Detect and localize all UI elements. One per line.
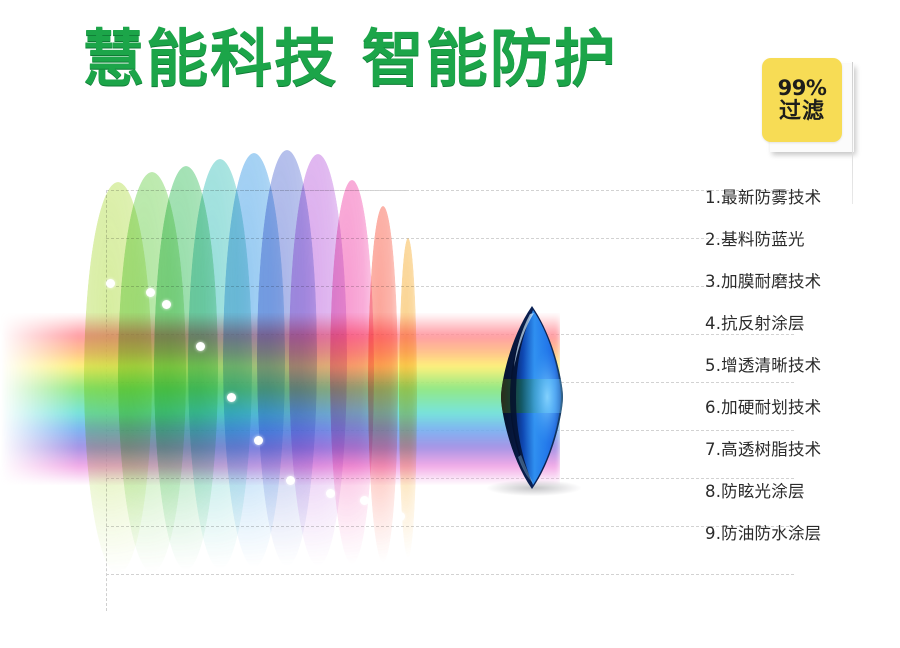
coating-layer-marker-8 [326,489,335,498]
coating-layer-marker-9 [360,496,369,505]
feature-item-7: 7.高透树脂技术 [705,440,895,482]
feature-item-3: 3.加膜耐磨技术 [705,272,895,314]
coating-layer-9 [368,206,398,562]
coating-layer-marker-3 [162,300,171,309]
feature-item-6: 6.加硬耐划技术 [705,398,895,440]
coating-layer-marker-10 [396,512,405,521]
feature-list: 1.最新防雾技术2.基料防蓝光3.加膜耐磨技术4.抗反射涂层5.增透清晰技术6.… [705,188,895,566]
coating-layer-marker-4 [196,342,205,351]
page-title-block: 慧能科技 智能防护 慧能科技 智能防护 [0,24,700,154]
badge-divider-rule [852,62,853,204]
coating-layer-marker-1 [106,279,115,288]
feature-item-4: 4.抗反射涂层 [705,314,895,356]
coating-layer-marker-7 [286,476,295,485]
coating-layer-marker-5 [227,393,236,402]
leader-line-9 [106,574,794,575]
badge-percent: 99% [778,77,827,99]
promo-poster: 慧能科技 智能防护 慧能科技 智能防护 99% 过滤 [0,0,900,648]
blue-focus-lens [497,305,567,490]
feature-item-5: 5.增透清晰技术 [705,356,895,398]
feature-item-1: 1.最新防雾技术 [705,188,895,230]
lens-coating-diagram [0,150,700,620]
feature-item-2: 2.基料防蓝光 [705,230,895,272]
badge-tile: 99% 过滤 [762,58,842,142]
feature-item-8: 8.防眩光涂层 [705,482,895,524]
coating-layer-10 [399,238,417,558]
badge-label: 过滤 [779,99,825,124]
feature-item-9: 9.防油防水涂层 [705,524,895,566]
coating-layer-marker-2 [146,288,155,297]
filter-badge: 99% 过滤 [758,54,858,154]
page-title: 慧能科技 智能防护 [0,24,700,94]
coating-layer-marker-6 [254,436,263,445]
